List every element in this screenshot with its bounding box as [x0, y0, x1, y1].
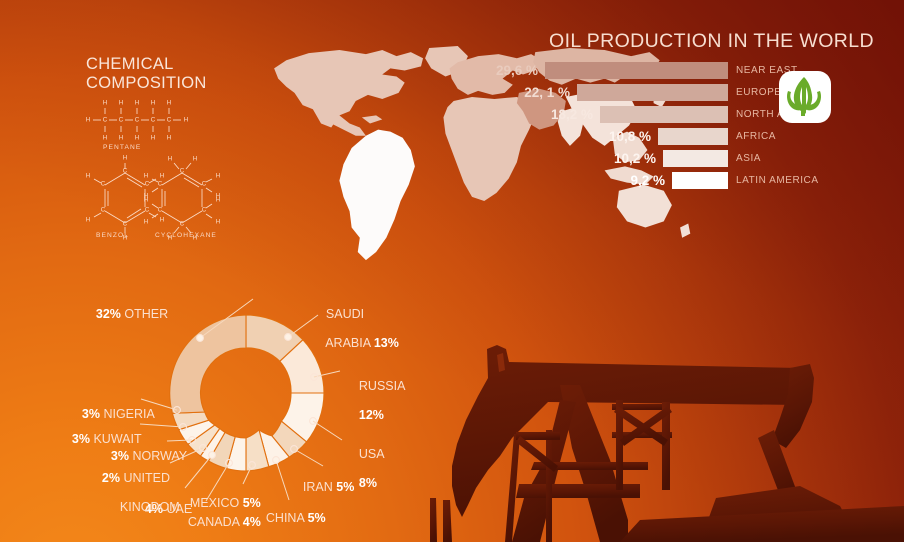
donut-name-china: CHINA: [266, 511, 308, 525]
donut-pct-china: 5%: [308, 511, 326, 525]
donut-pct-usa: 8%: [359, 476, 377, 490]
donut-label-china: CHINA 5%: [252, 496, 326, 540]
leader-usa: [313, 421, 342, 440]
leader-iran: [294, 449, 323, 466]
donut-label-nigeria: 3% NIGERIA: [68, 392, 155, 436]
donut-segments: [170, 315, 324, 471]
donut-name-uk-line2: KINGDOM: [120, 500, 180, 515]
donut-label-saudi-arabia: SAUDI ARABIA 13%: [312, 292, 399, 365]
donut-name-nigeria: NIGERIA: [100, 407, 155, 421]
donut-name-russia: RUSSIA: [359, 379, 406, 393]
donut-name-canada: CANADA: [188, 515, 243, 529]
donut-segment-other: [170, 315, 246, 413]
marker-china: [273, 457, 280, 464]
marker-uae: [209, 452, 216, 459]
donut-pct-canada: 4%: [243, 515, 261, 529]
donut-name-saudi-line2: ARABIA: [325, 336, 374, 350]
donut-pct-russia: 12%: [359, 408, 384, 422]
donut-label-russia: RUSSIA 12%: [345, 364, 405, 437]
donut-pct-nigeria: 3%: [82, 407, 100, 421]
donut-name-usa: USA: [359, 447, 385, 461]
donut-name-other: OTHER: [121, 307, 168, 321]
donut-name-saudi-line1: SAUDI: [326, 307, 364, 321]
leader-china: [276, 460, 289, 500]
marker-other: [197, 335, 204, 342]
marker-saudi: [285, 334, 292, 341]
donut-pct-iran: 5%: [336, 480, 354, 494]
donut-label-other: 32% OTHER: [82, 292, 168, 336]
donut-pct-other: 32%: [96, 307, 121, 321]
donut-name-iran: IRAN: [303, 480, 336, 494]
infographic-poster: OIL PRODUCTION IN THE WORLD CHEMICAL COM…: [0, 0, 904, 542]
donut-pct-saudi: 13%: [374, 336, 399, 350]
